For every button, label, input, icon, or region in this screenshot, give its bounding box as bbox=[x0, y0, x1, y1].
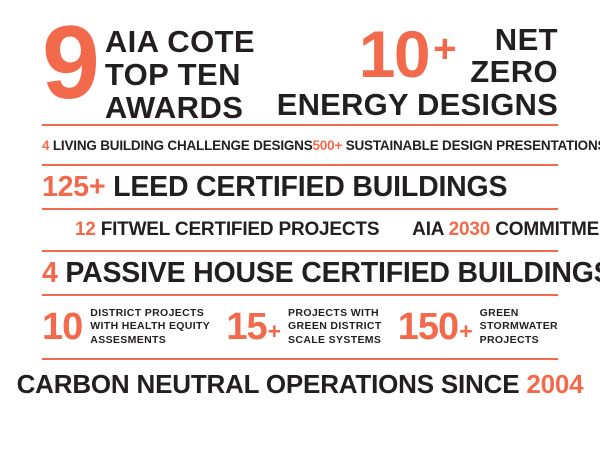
carbon-neutral-year: 2004 bbox=[526, 369, 583, 400]
hero-right-plus: + bbox=[433, 24, 456, 74]
hero-right-label-line-1: NET bbox=[495, 24, 558, 56]
sustainable-design-label: SUSTAINABLE DESIGN PRESENTATIONS bbox=[342, 138, 600, 153]
stat-1-number: 10 bbox=[42, 308, 82, 346]
three-column-stats: 10 DISTRICT PROJECTS WITH HEALTH EQUITY … bbox=[42, 296, 558, 358]
stat-2-number: 15 bbox=[226, 308, 266, 346]
hero-right-top: 10 + NET ZERO bbox=[359, 24, 558, 87]
hero-right-label: NET ZERO bbox=[462, 24, 558, 87]
sustainability-stats-infographic: 9 AIA COTE TOP TEN AWARDS 10 + NET ZERO … bbox=[0, 0, 600, 450]
stat-1-label: DISTRICT PROJECTS WITH HEALTH EQUITY ASS… bbox=[90, 307, 210, 348]
stat-2-label-line-2: GREEN DISTRICT bbox=[288, 320, 382, 334]
stat-2-number-group: 15+ bbox=[226, 308, 281, 346]
hero-left-label-line-1: AIA COTE bbox=[105, 26, 255, 59]
row-passive-house-certified-buildings: 4 PASSIVE HOUSE CERTIFIED BUILDINGS bbox=[42, 252, 558, 294]
stat-3-number-group: 150+ bbox=[398, 308, 473, 346]
stat-green-stormwater-projects: 150+ GREEN STORMWATER PROJECTS bbox=[398, 307, 558, 348]
living-building-label: LIVING BUILDING CHALLENGE DESIGNS bbox=[49, 138, 312, 153]
hero-left-label-line-3: AWARDS bbox=[105, 92, 255, 125]
carbon-neutral-prefix: CARBON NEUTRAL OPERATIONS SINCE bbox=[17, 369, 527, 400]
hero-band: 9 AIA COTE TOP TEN AWARDS 10 + NET ZERO … bbox=[42, 0, 558, 124]
stat-district-projects: 10 DISTRICT PROJECTS WITH HEALTH EQUITY … bbox=[42, 307, 210, 348]
fitwel-label: FITWEL CERTIFIED PROJECTS bbox=[96, 219, 380, 240]
hero-left-number: 9 bbox=[42, 20, 97, 107]
stat-1-label-line-2: WITH HEALTH EQUITY bbox=[90, 320, 210, 334]
sustainable-design-count: 500+ bbox=[313, 138, 343, 153]
row-carbon-neutral-operations: CARBON NEUTRAL OPERATIONS SINCE 2004 bbox=[42, 360, 558, 408]
hero-left-label: AIA COTE TOP TEN AWARDS bbox=[105, 24, 255, 125]
hero-left-label-line-2: TOP TEN bbox=[105, 59, 255, 92]
stat-3-number: 150 bbox=[398, 308, 458, 346]
stat-2-plus: + bbox=[268, 320, 281, 343]
hero-stat-aia-cote-awards: 9 AIA COTE TOP TEN AWARDS bbox=[42, 24, 255, 125]
stat-2-label-line-1: PROJECTS WITH bbox=[288, 307, 382, 321]
stat-2-label-line-3: SCALE SYSTEMS bbox=[288, 334, 382, 348]
stat-3-label-line-1: GREEN bbox=[480, 307, 558, 321]
aia-2030-prefix: AIA bbox=[412, 219, 449, 240]
aia-2030-year: 2030 bbox=[449, 219, 490, 240]
aia-2030-suffix: COMMITMENT bbox=[490, 219, 600, 240]
fitwel-count: 12 bbox=[75, 219, 96, 240]
hero-right-number: 10 bbox=[359, 24, 429, 85]
stat-green-district-scale-systems: 15+ PROJECTS WITH GREEN DISTRICT SCALE S… bbox=[226, 307, 381, 348]
living-building-count: 4 bbox=[42, 138, 49, 153]
stat-3-label-line-2: STORMWATER bbox=[480, 320, 558, 334]
aia-2030-group: AIA 2030 COMMITMENT bbox=[379, 197, 600, 263]
stat-3-label-line-3: PROJECTS bbox=[480, 334, 558, 348]
stat-2-label: PROJECTS WITH GREEN DISTRICT SCALE SYSTE… bbox=[288, 307, 382, 348]
stat-1-number-group: 10 bbox=[42, 308, 83, 346]
fitwel-group: 12 FITWEL CERTIFIED PROJECTS bbox=[42, 197, 379, 263]
row-fitwel-and-aia-2030: 12 FITWEL CERTIFIED PROJECTS AIA 2030 CO… bbox=[42, 210, 558, 250]
hero-right-subtitle: ENERGY DESIGNS bbox=[277, 89, 558, 121]
passive-house-label: PASSIVE HOUSE CERTIFIED BUILDINGS bbox=[58, 257, 600, 290]
stat-1-label-line-1: DISTRICT PROJECTS bbox=[90, 307, 210, 321]
stat-3-plus: + bbox=[459, 320, 472, 343]
stat-3-label: GREEN STORMWATER PROJECTS bbox=[480, 307, 558, 348]
stat-1-label-line-3: ASSESMENTS bbox=[90, 334, 210, 348]
passive-house-count: 4 bbox=[42, 257, 58, 290]
row-living-building-challenge: 4 LIVING BUILDING CHALLENGE DESIGNS 500+… bbox=[42, 126, 558, 164]
hero-right-label-line-2: ZERO bbox=[470, 56, 558, 88]
hero-stat-net-zero-energy-designs: 10 + NET ZERO ENERGY DESIGNS bbox=[277, 24, 558, 121]
